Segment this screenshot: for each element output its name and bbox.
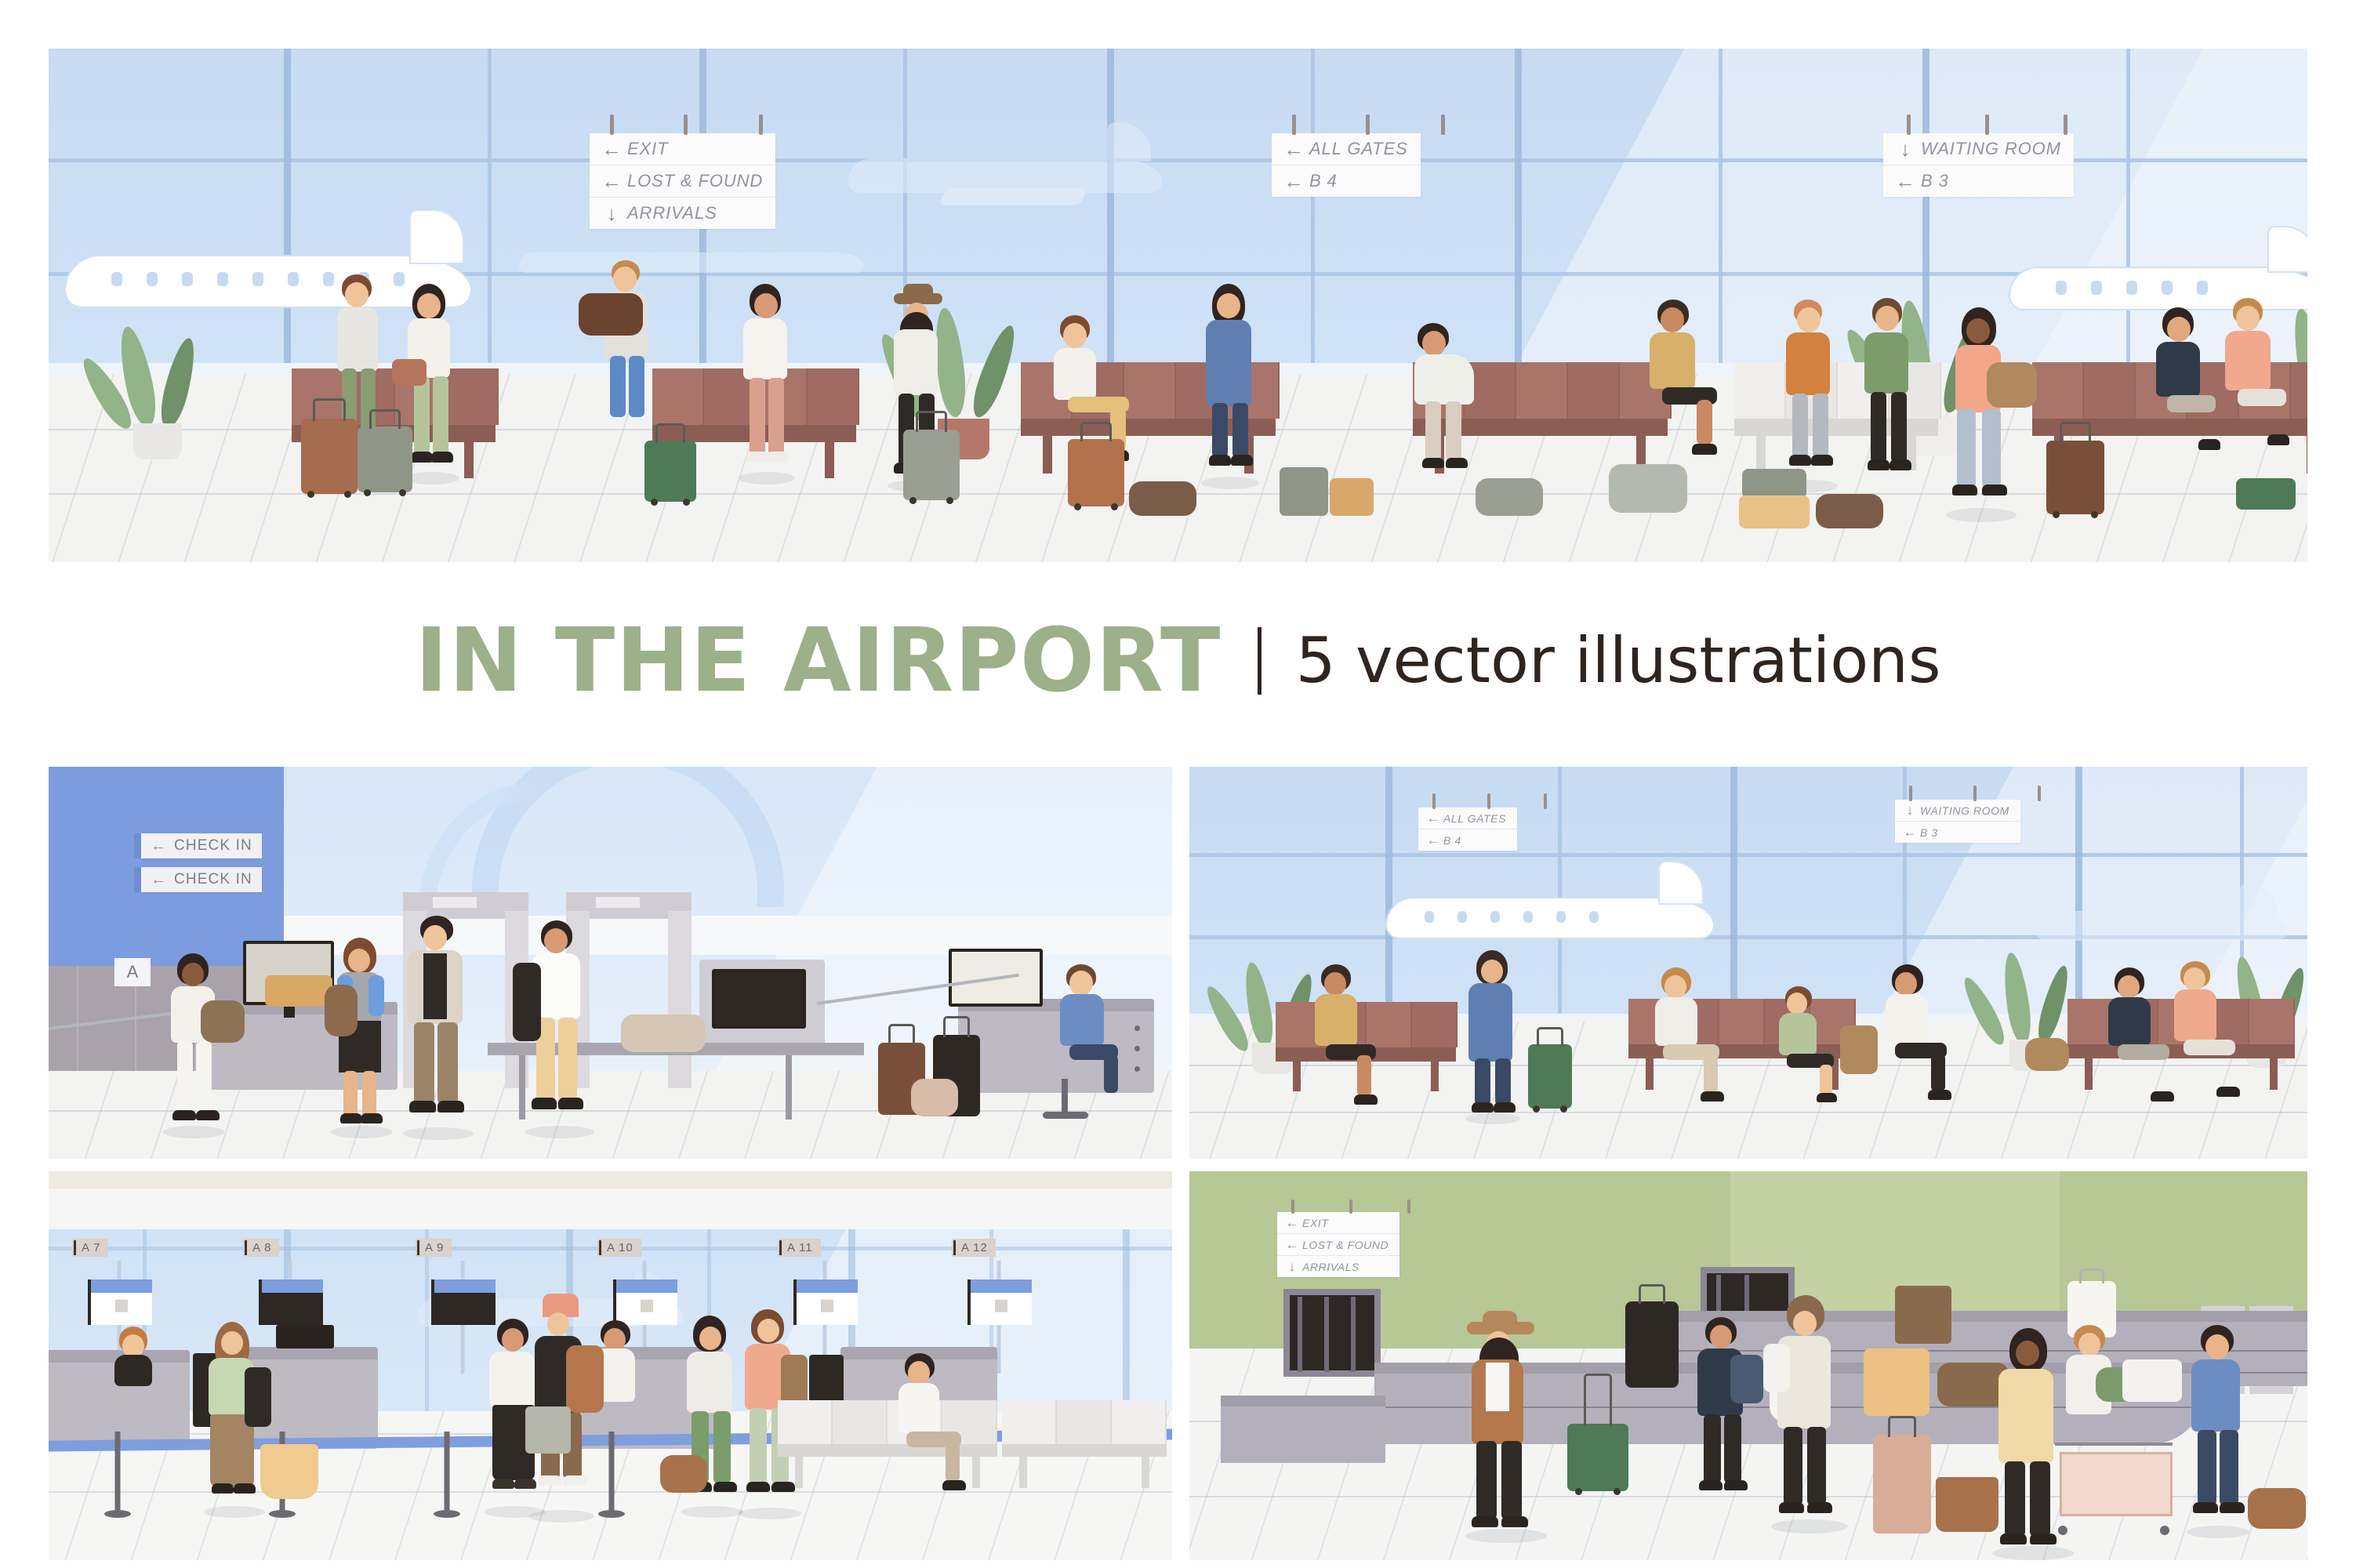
traveller-walking [1691, 1317, 1757, 1513]
duffel-bag [1816, 494, 1883, 528]
seated-couple-left [2150, 307, 2220, 464]
office-chair [1062, 1079, 1068, 1115]
traveller [1860, 298, 1918, 492]
sign-label: ALL GATES [1443, 812, 1506, 825]
shoulder-bag [1987, 362, 2037, 408]
sign-row[interactable]: ← B 3 [1895, 822, 2020, 843]
column-label-text: A [127, 962, 139, 982]
sign-row[interactable]: ← B 3 [1883, 165, 2074, 197]
belt-opening [1283, 1289, 1381, 1377]
sign-label: LOST & FOUND [627, 171, 763, 191]
traveller-with-hat [1464, 1311, 1547, 1538]
suitcase-on-belt [2122, 1359, 2182, 1402]
queue-stanchion[interactable] [433, 1432, 461, 1518]
suitcase [1528, 1044, 1572, 1109]
suitcase [903, 430, 960, 500]
traveller-with-phone [2307, 315, 2307, 503]
arrow-down-icon: ↓ [596, 203, 627, 223]
traveller-with-bag [1770, 1295, 1848, 1529]
backpack [1840, 1025, 1878, 1074]
title-block: IN THE AIRPORT 5 vector illustrations [0, 596, 2356, 725]
gate-number: A 9 [416, 1239, 452, 1257]
arrow-left-icon: ← [151, 837, 166, 855]
sign-row[interactable]: ← B 4 [1418, 829, 1517, 851]
queue-stanchion[interactable] [597, 1432, 626, 1518]
standing-traveller [1465, 950, 1520, 1120]
seated-couple-right [2165, 961, 2251, 1112]
backpack [1763, 1344, 1790, 1392]
arrow-left-icon: ← [1282, 1216, 1302, 1229]
duffel-bag [1476, 478, 1543, 516]
ceiling-band [49, 1171, 1172, 1189]
sign-row[interactable]: ← LOST & FOUND [1277, 1234, 1399, 1256]
gate-number: A 7 [72, 1239, 108, 1257]
sign-row[interactable]: ← EXIT [590, 133, 775, 165]
suitcase [1873, 1435, 1931, 1534]
page-title: IN THE AIRPORT [415, 617, 1221, 705]
traveller [739, 284, 795, 480]
arrow-left-icon: ← [1278, 139, 1309, 159]
traveller-bending [1413, 323, 1499, 480]
sign-label: B 3 [1920, 826, 1938, 839]
title-divider [1258, 627, 1261, 695]
sign-row[interactable]: ↓ ARRIVALS [1277, 1256, 1399, 1277]
handbag [911, 1079, 958, 1116]
arrow-down-icon: ↓ [1890, 139, 1921, 159]
duffel-bag [1609, 464, 1687, 513]
suitcase [1330, 478, 1374, 516]
sign-row[interactable]: ← B 4 [1272, 165, 1421, 197]
seated-traveller [1876, 964, 1962, 1110]
duffel-bag [2248, 1488, 2306, 1529]
sign-row[interactable]: ↓ ARRIVALS [590, 198, 775, 229]
conveyor-leg [786, 1055, 792, 1120]
suitcase [644, 441, 696, 502]
suitcase-on-belt [1864, 1348, 1929, 1416]
gate-number: A 11 [778, 1239, 821, 1257]
seated-child [1770, 986, 1848, 1109]
illustration-set-canvas: ← EXIT ← LOST & FOUND ↓ ARRIVALS ← ALL G… [0, 0, 2356, 1568]
arrow-left-icon: ← [1423, 833, 1443, 847]
sign-all-gates-2: ← ALL GATES ← B 4 [1418, 808, 1517, 851]
baggage-claim-illustration: ← EXIT ← LOST & FOUND ↓ ARRIVALS [1189, 1171, 2307, 1560]
traveller [1201, 284, 1259, 485]
traveller-with-duffel [2060, 1325, 2125, 1466]
gate-number: A 10 [597, 1239, 641, 1257]
seating-bench [1002, 1400, 1167, 1499]
shoulder-bag [245, 1367, 271, 1427]
sign-row[interactable]: ↓ WAITING ROOM [1895, 800, 2020, 822]
sign-waiting-room: ↓ WAITING ROOM ← B 3 [1883, 133, 2074, 197]
arrow-left-icon: ← [1278, 171, 1309, 191]
arrow-down-icon: ↓ [1282, 1260, 1302, 1273]
traveller-man [400, 916, 478, 1135]
handbag [660, 1455, 707, 1493]
suitcase [301, 419, 358, 494]
check-in-desks-illustration: A 7 A 8 A 9 A 10 A 11 [49, 1171, 1172, 1560]
seated-couple-right [2219, 298, 2289, 463]
traveller-with-duffel [597, 260, 660, 433]
arrow-left-icon: ← [151, 871, 166, 889]
sign-label: B 4 [1309, 171, 1338, 191]
traveller-walking [166, 953, 223, 1134]
sign-label: B 3 [1921, 171, 1949, 191]
arrow-left-icon: ← [1900, 826, 1920, 839]
suitcase [358, 426, 412, 492]
traveller-woman [331, 938, 394, 1134]
standing-traveller [1781, 299, 1839, 488]
sign-check-in-1[interactable]: ← CHECK IN [141, 833, 262, 858]
airplane-left [1385, 884, 1730, 971]
ceiling-band [49, 1189, 1172, 1229]
seated-traveller [1305, 964, 1392, 1113]
check-in-agent [110, 1327, 165, 1421]
tote-bag [260, 1444, 318, 1499]
suitcase [2046, 441, 2104, 514]
suitcase [2236, 478, 2296, 510]
suitcase-on-belt [1895, 1286, 1951, 1344]
sign-row[interactable]: ← ALL GATES [1418, 808, 1517, 829]
traveller-standing [2185, 1325, 2251, 1534]
backpack [566, 1345, 604, 1413]
sign-label: EXIT [1302, 1217, 1328, 1229]
backpack [325, 985, 358, 1036]
arrow-left-icon: ← [596, 139, 627, 159]
shoulder-bag [513, 963, 541, 1041]
sign-label: EXIT [627, 139, 668, 159]
arrow-down-icon: ↓ [1900, 804, 1920, 817]
sign-label: ARRIVALS [627, 203, 717, 223]
arrow-left-icon: ← [1890, 171, 1921, 191]
departure-lounge-banner: ← EXIT ← LOST & FOUND ↓ ARRIVALS ← ALL G… [49, 49, 2307, 562]
potted-plant [1981, 952, 2075, 1101]
shoulder-bag [201, 1000, 245, 1043]
suitcase [1739, 495, 1810, 528]
duffel-bag [579, 293, 643, 336]
rolling-suitcase [1567, 1424, 1628, 1491]
suitcase [525, 1406, 571, 1454]
sign-exit: ← EXIT ← LOST & FOUND ↓ ARRIVALS [590, 133, 775, 229]
page-subtitle: 5 vector illustrations [1296, 630, 1941, 692]
suitcase [1280, 467, 1328, 516]
sign-row[interactable]: ← LOST & FOUND [590, 165, 775, 198]
seated-traveller [888, 1353, 982, 1502]
seated-traveller [1640, 299, 1734, 464]
xray-monitor [712, 969, 806, 1029]
sign-label: LOST & FOUND [1302, 1239, 1389, 1251]
sign-row[interactable]: ← EXIT [1277, 1212, 1399, 1234]
airplane-distant-center [848, 143, 1178, 229]
handbag [2025, 1038, 2069, 1071]
sign-row[interactable]: ↓ WAITING ROOM [1883, 133, 2074, 165]
gate-number: A 8 [243, 1239, 279, 1257]
sign-label: CHECK IN [174, 871, 252, 888]
traveller-with-bag [522, 920, 597, 1134]
cabin-bag-on-belt [621, 1014, 706, 1052]
backpack [1730, 1355, 1763, 1403]
sign-exit-2: ← EXIT ← LOST & FOUND ↓ ARRIVALS [1277, 1212, 1399, 1277]
potted-plant [110, 325, 204, 505]
sign-check-in-2[interactable]: ← CHECK IN [141, 867, 262, 892]
queuing-traveller [204, 1322, 265, 1513]
suitcase [1068, 439, 1124, 506]
sign-label: WAITING ROOM [1920, 804, 2009, 817]
arrow-left-icon: ← [1282, 1238, 1302, 1251]
sign-row[interactable]: ← ALL GATES [1272, 133, 1421, 165]
baggage-carousel-side [1221, 1396, 1385, 1463]
arrow-left-icon: ← [1423, 811, 1443, 825]
waiting-room-illustration: ← ALL GATES ← B 4 ↓ WAITING ROOM ← B 3 [1189, 767, 2307, 1159]
walking-traveller [1946, 307, 2017, 517]
sign-label: CHECK IN [174, 837, 252, 855]
suitcase-on-counter [265, 975, 332, 1007]
sign-label: B 4 [1443, 834, 1461, 847]
suitcase-on-belt [1625, 1301, 1679, 1388]
xray-scanner [699, 960, 825, 1046]
sign-label: ALL GATES [1309, 139, 1408, 159]
seated-traveller [1644, 967, 1738, 1109]
gate-number: A 12 [952, 1239, 996, 1257]
sign-waiting-room-2: ↓ WAITING ROOM ← B 3 [1895, 800, 2020, 843]
sign-label: WAITING ROOM [1921, 139, 2061, 159]
airplane-distant-left [519, 245, 880, 292]
sign-label: ARRIVALS [1302, 1261, 1360, 1273]
sign-all-gates: ← ALL GATES ← B 4 [1272, 133, 1421, 197]
office-chair-base [1043, 1112, 1088, 1119]
blue-wall [49, 767, 284, 966]
queue-stanchion[interactable] [103, 1432, 132, 1518]
column-label-a: A [114, 958, 151, 986]
suitcase [1742, 469, 1806, 499]
duffel-bag [1129, 481, 1196, 516]
security-check-in-illustration: ← CHECK IN ← CHECK IN A [49, 767, 1172, 1159]
arrow-left-icon: ← [596, 171, 627, 191]
